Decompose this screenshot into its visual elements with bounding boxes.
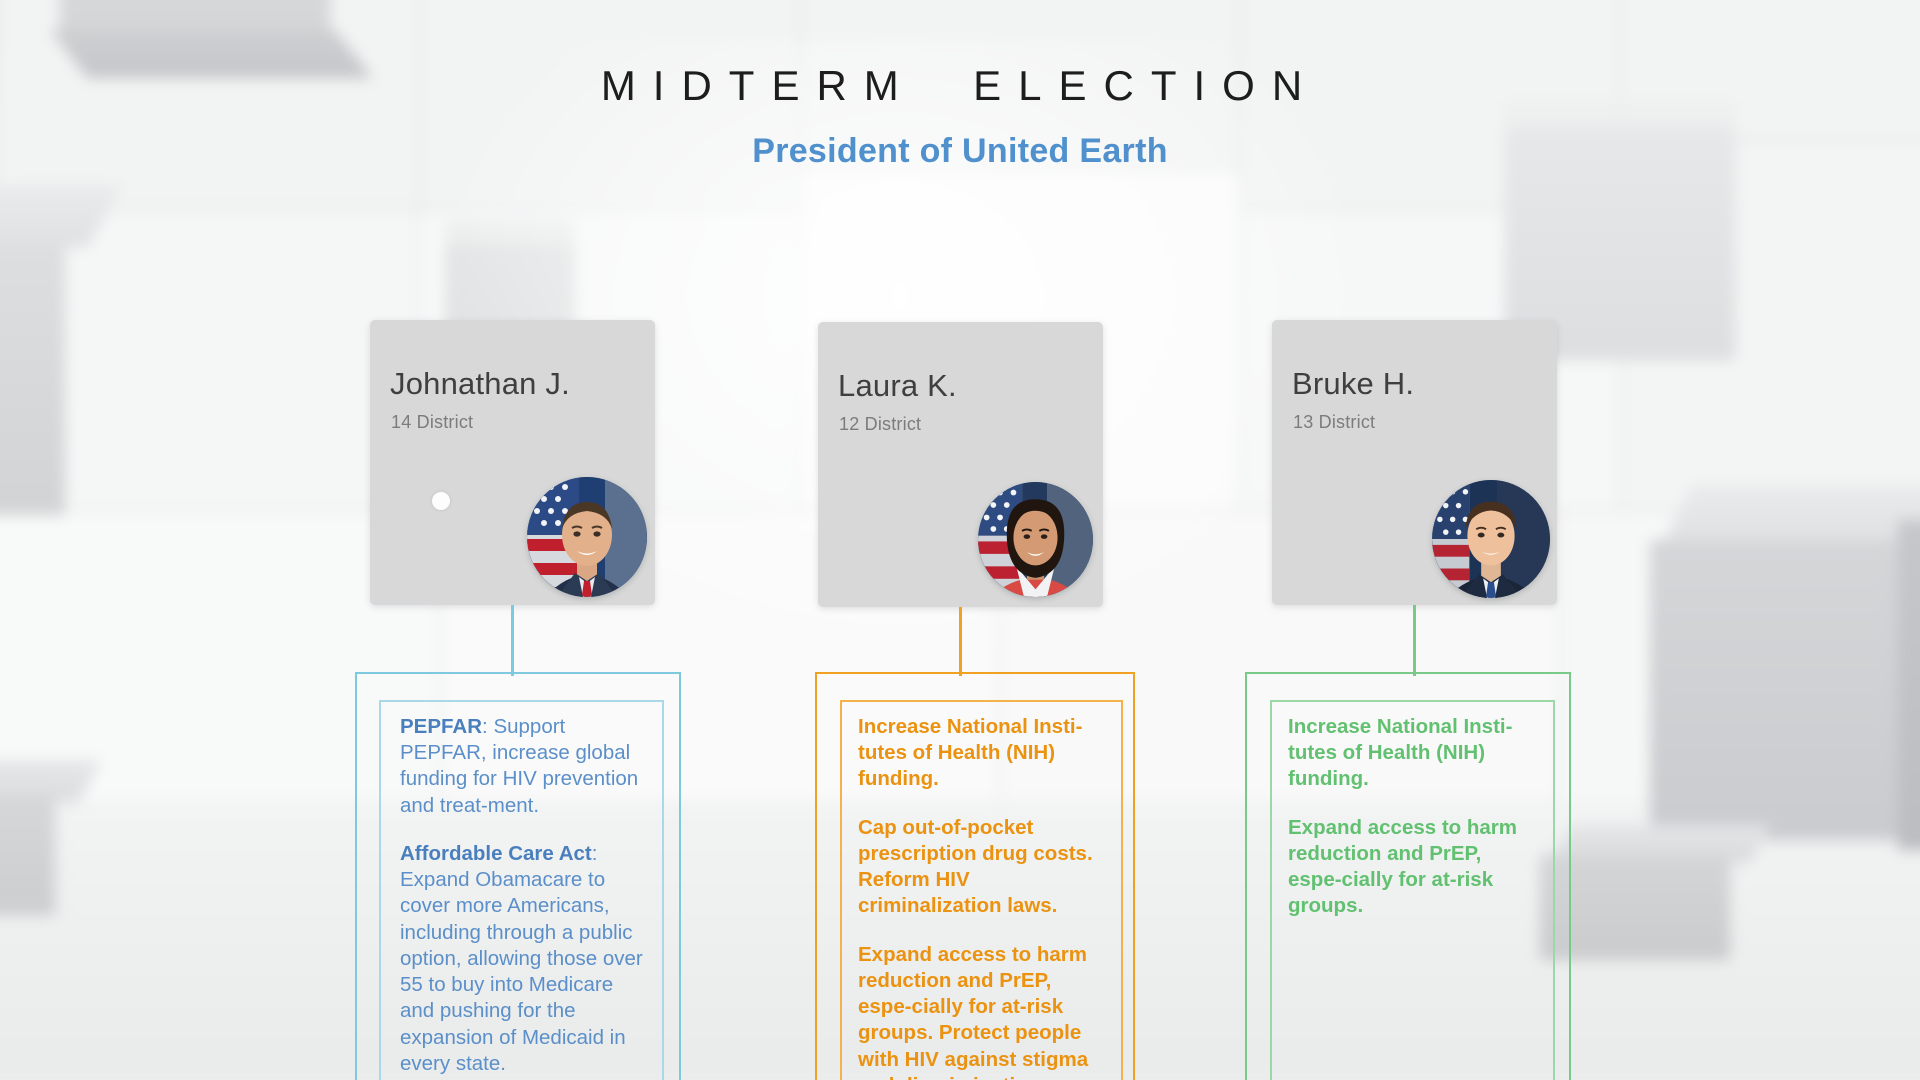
policy-item-body: Expand access to harm reduction and PrEP… [1288,816,1517,918]
connector-stem-johnathan [511,605,514,676]
policy-item: Increase National Insti-tutes of Health … [858,714,1108,793]
policy-item-separator: : [592,842,598,865]
portrait-bruke-image [1432,480,1550,598]
page-subtitle: President of United Earth [0,132,1920,171]
policy-item-lead: PEPFAR [400,715,482,738]
connector-stem-bruke [1413,605,1416,676]
portrait-johnathan [527,477,647,597]
policy-list-johnathan: PEPFAR: Support PEPFAR, increase global … [400,714,652,1080]
candidate-district: 14 District [391,412,473,433]
candidate-name: Laura K. [838,368,957,404]
policy-item: Increase National Insti-tutes of Health … [1288,714,1540,793]
policy-item: Expand access to harm reduction and PrEP… [858,942,1108,1080]
policy-item: Expand access to harm reduction and PrEP… [1288,815,1540,920]
policy-item: Cap out-of-pocket prescription drug cost… [858,815,1108,920]
candidate-district: 12 District [839,414,921,435]
candidate-district: 13 District [1293,412,1375,433]
portrait-laura-image [978,482,1093,597]
policy-item-body: Increase National Insti-tutes of Health … [858,715,1082,790]
page-header: MIDTERM ELECTION President of United Ear… [0,0,1920,171]
policy-item-body: Expand access to harm reduction and PrEP… [858,943,1088,1080]
portrait-johnathan-image [527,477,647,597]
candidate-name: Johnathan J. [390,366,570,402]
policy-item-body: Expand Obamacare to cover more Americans… [400,868,643,1075]
portrait-bruke [1432,480,1550,598]
portrait-laura [978,482,1093,597]
policy-list-bruke: Increase National Insti-tutes of Health … [1288,714,1540,920]
connector-stem-laura [959,607,962,676]
policy-item: PEPFAR: Support PEPFAR, increase global … [400,714,652,819]
policy-item: Affordable Care Act: Expand Obamacare to… [400,841,652,1077]
policy-item-lead: Affordable Care Act [400,842,592,865]
page-title: MIDTERM ELECTION [0,62,1920,110]
selection-dot[interactable] [432,492,450,510]
policy-item-body: Increase National Insti-tutes of Health … [1288,715,1512,790]
policy-list-laura: Increase National Insti-tutes of Health … [858,714,1108,1080]
policy-item-body: Cap out-of-pocket prescription drug cost… [858,816,1093,918]
candidate-name: Bruke H. [1292,366,1414,402]
policy-item-separator: : [482,715,493,738]
